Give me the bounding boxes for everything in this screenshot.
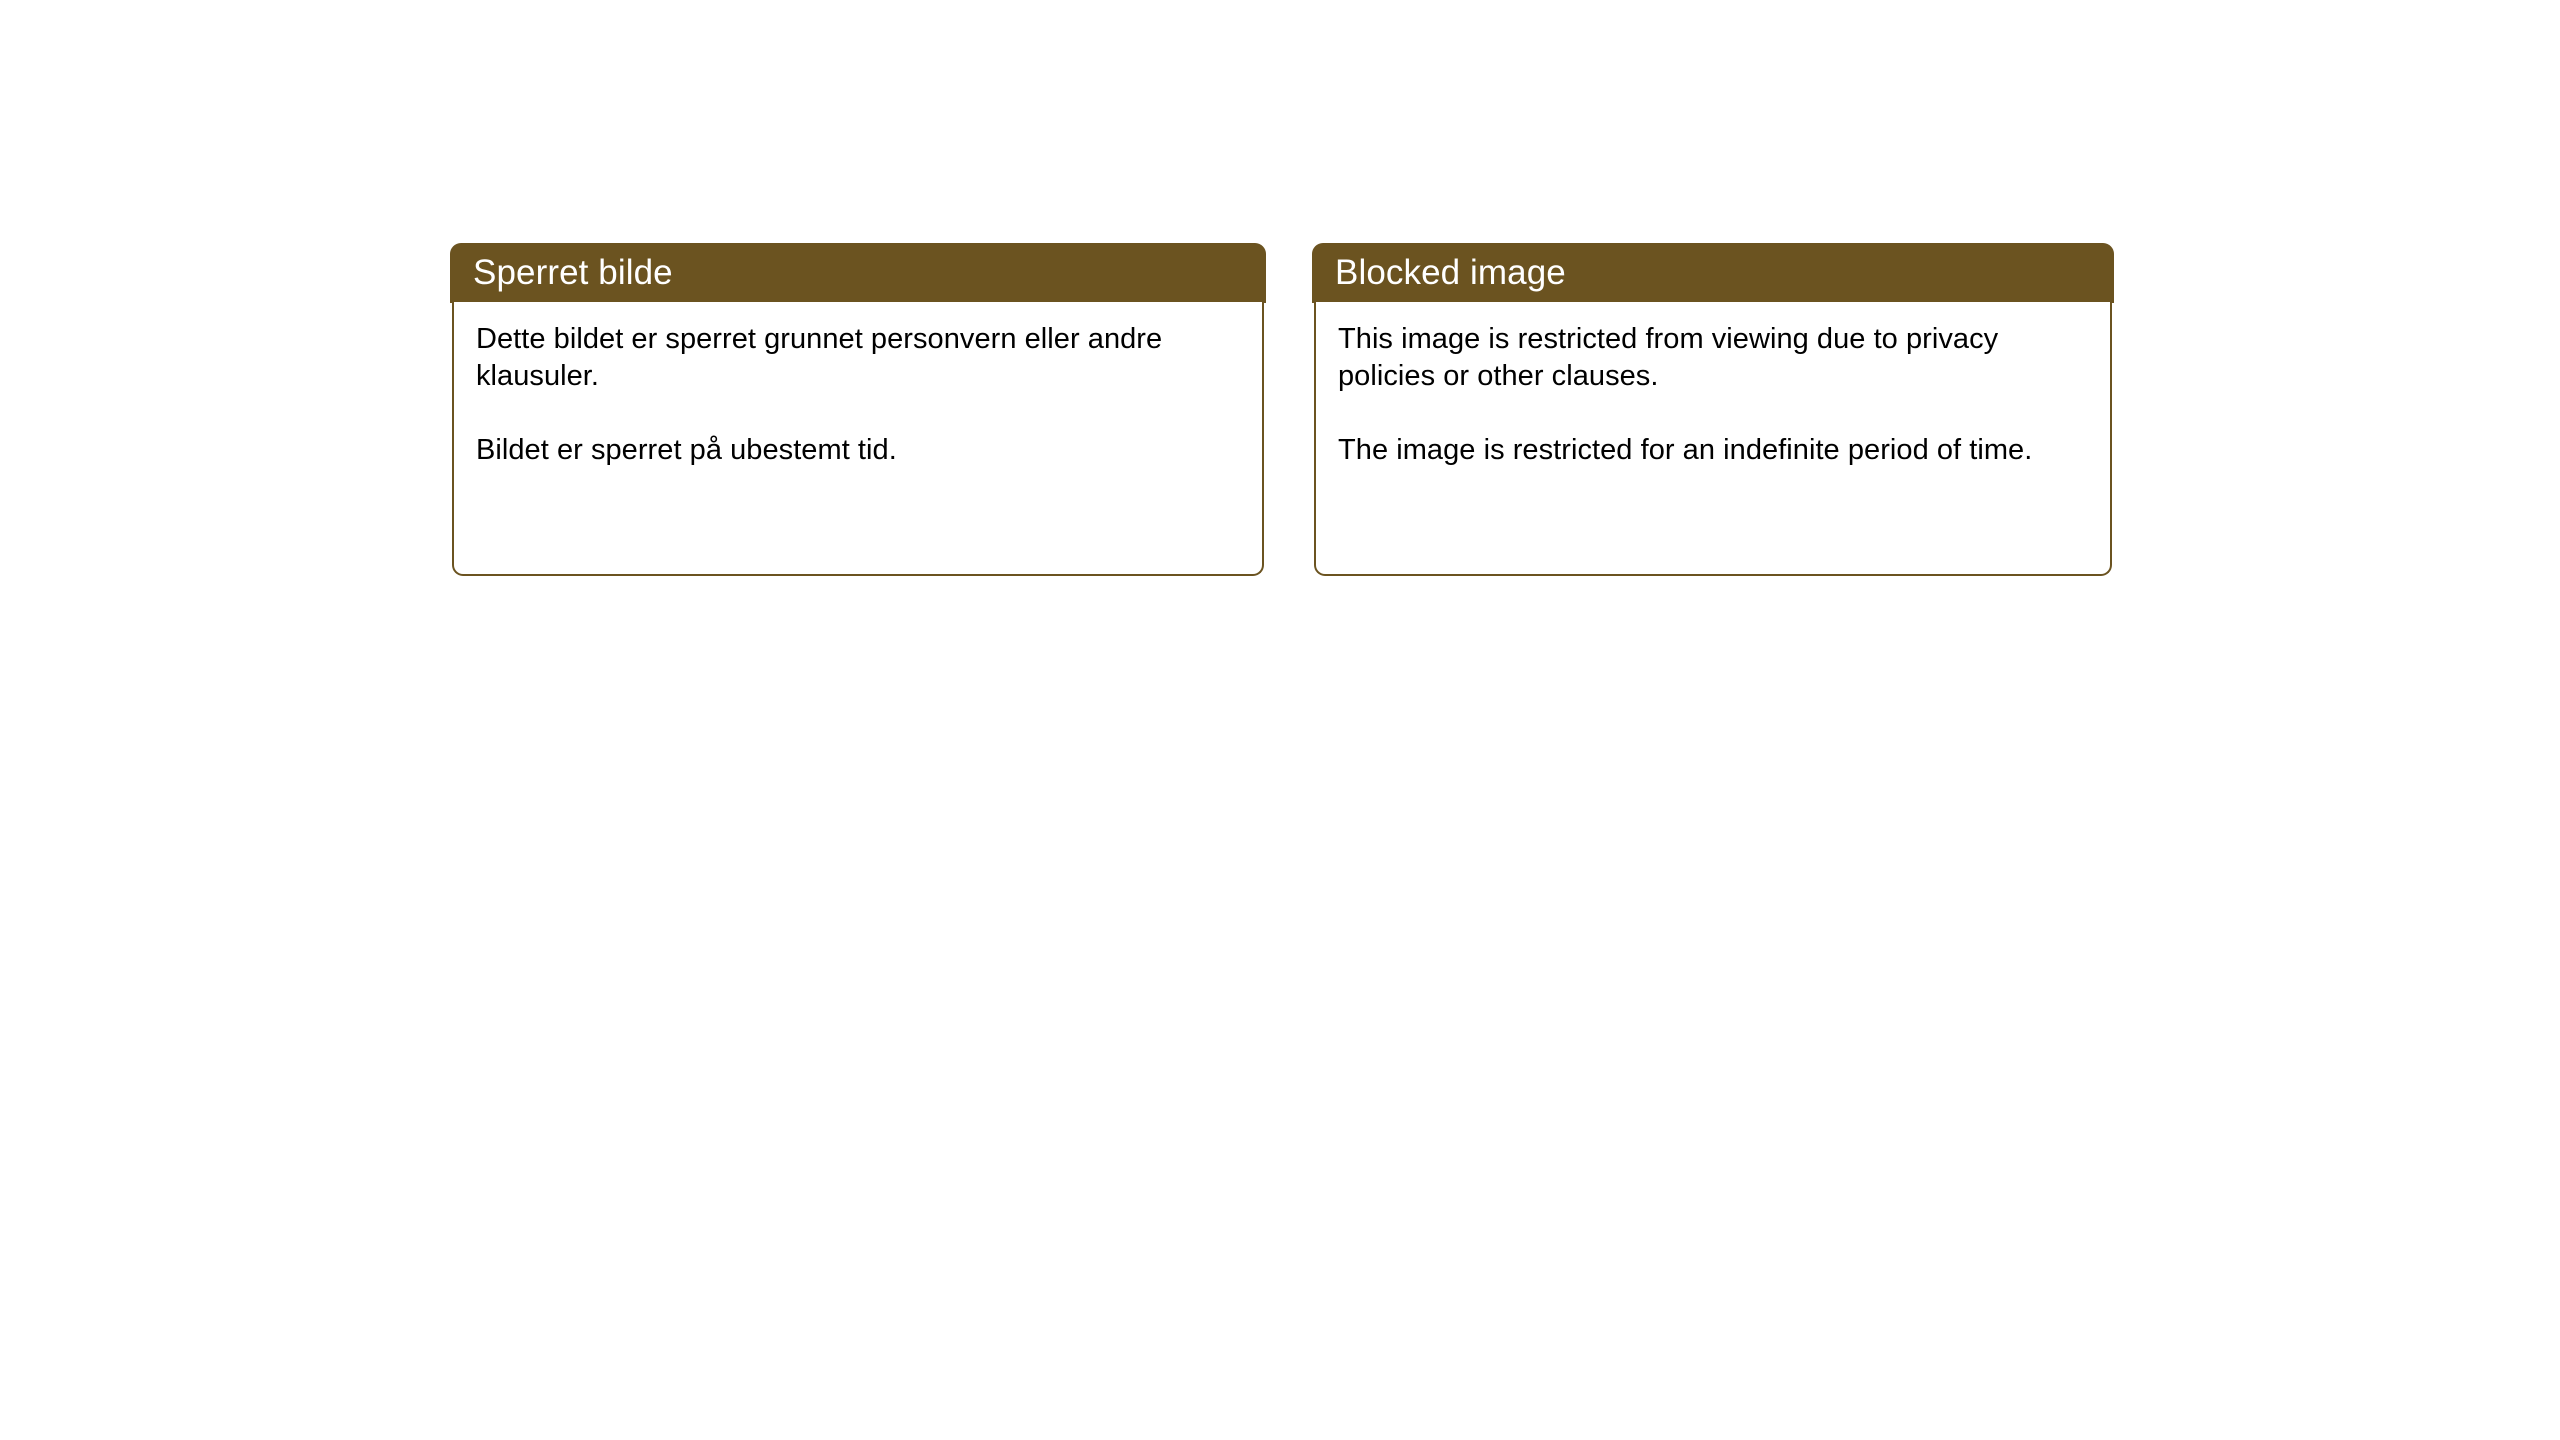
panel-body-english: This image is restricted from viewing du… (1314, 302, 2112, 576)
panel-body-norwegian: Dette bildet er sperret grunnet personve… (452, 302, 1264, 576)
blocked-image-notice-panel-norwegian: Sperret bilde Dette bildet er sperret gr… (450, 243, 1266, 576)
panel-title-english: Blocked image (1335, 253, 1566, 293)
panel-header-norwegian: Sperret bilde (450, 243, 1266, 303)
panel-header-english: Blocked image (1312, 243, 2114, 303)
panel-title-norwegian: Sperret bilde (473, 253, 673, 293)
panel-paragraph-secondary-english: The image is restricted for an indefinit… (1338, 432, 2090, 469)
panel-paragraph-primary-english: This image is restricted from viewing du… (1338, 321, 2090, 395)
page-canvas: Sperret bilde Dette bildet er sperret gr… (0, 0, 2560, 1440)
paragraph-spacer (1338, 395, 2090, 432)
panel-paragraph-secondary-norwegian: Bildet er sperret på ubestemt tid. (476, 432, 1242, 469)
panel-paragraph-primary-norwegian: Dette bildet er sperret grunnet personve… (476, 321, 1242, 395)
blocked-image-notice-panel-english: Blocked image This image is restricted f… (1312, 243, 2114, 576)
paragraph-spacer (476, 395, 1242, 432)
